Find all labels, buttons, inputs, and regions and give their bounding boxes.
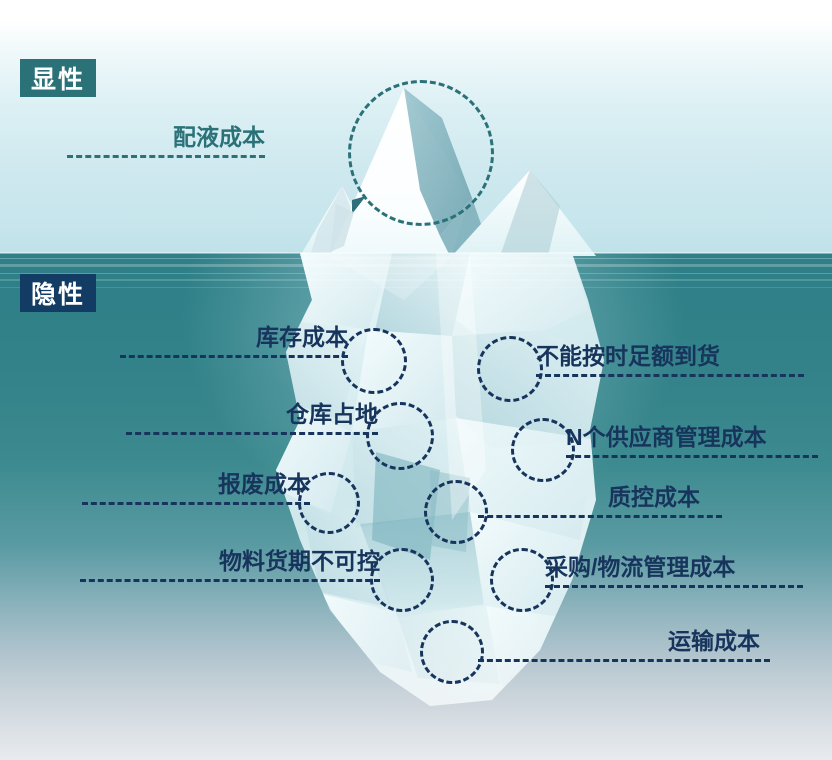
callout-label-warehouse-space: 仓库占地 (286, 403, 378, 426)
callout-rule-quality-control (478, 515, 722, 518)
callout-label-quality-control: 质控成本 (608, 486, 700, 509)
callout-label-scrap-cost: 报废成本 (218, 473, 310, 496)
callout-procurement-logistics: 采购/物流管理成本 (545, 548, 832, 588)
callout-rule-mixing-cost (67, 155, 265, 158)
callout-transport-cost: 运输成本 (478, 622, 788, 662)
callout-label-procurement-logistics: 采购/物流管理成本 (545, 556, 735, 579)
callout-mixing-cost: 配液成本 (55, 118, 265, 158)
callout-quality-control: 质控成本 (478, 478, 738, 518)
callout-rule-supplier-management (566, 455, 818, 458)
callout-inventory-cost: 库存成本 (38, 318, 348, 358)
callout-rule-scrap-cost (82, 502, 310, 505)
marker-ring-inventory-cost (341, 328, 407, 394)
callout-supplier-management: N个供应商管理成本 (566, 418, 832, 458)
callout-rule-late-short-delivery (536, 374, 804, 377)
callout-label-supplier-management: N个供应商管理成本 (566, 426, 767, 449)
marker-ring-transport-cost (420, 620, 484, 684)
callout-warehouse-space: 仓库占地 (38, 395, 378, 435)
badge-hidden-cost: 隐性 (20, 274, 96, 312)
marker-ring-mixing-cost (348, 80, 494, 226)
callout-label-mixing-cost: 配液成本 (173, 126, 265, 149)
callout-rule-warehouse-space (126, 432, 378, 435)
iceberg-infographic: 显性 隐性 配液成本 库存成本 仓库占地 报废成本 物料货期不可控 不能按时足额… (0, 0, 832, 760)
callout-label-transport-cost: 运输成本 (668, 630, 760, 653)
callout-lead-time-risk: 物料货期不可控 (0, 542, 380, 582)
marker-ring-late-short-delivery (477, 336, 543, 402)
callout-label-late-short-delivery: 不能按时足额到货 (536, 345, 720, 368)
callout-late-short-delivery: 不能按时足额到货 (536, 337, 826, 377)
callout-scrap-cost: 报废成本 (0, 465, 310, 505)
callout-rule-procurement-logistics (545, 585, 803, 588)
callout-label-inventory-cost: 库存成本 (256, 326, 348, 349)
callout-rule-lead-time-risk (80, 579, 380, 582)
callout-rule-inventory-cost (120, 355, 348, 358)
callout-label-lead-time-risk: 物料货期不可控 (219, 550, 380, 573)
badge-visible-cost: 显性 (20, 59, 96, 97)
callout-rule-transport-cost (478, 659, 770, 662)
